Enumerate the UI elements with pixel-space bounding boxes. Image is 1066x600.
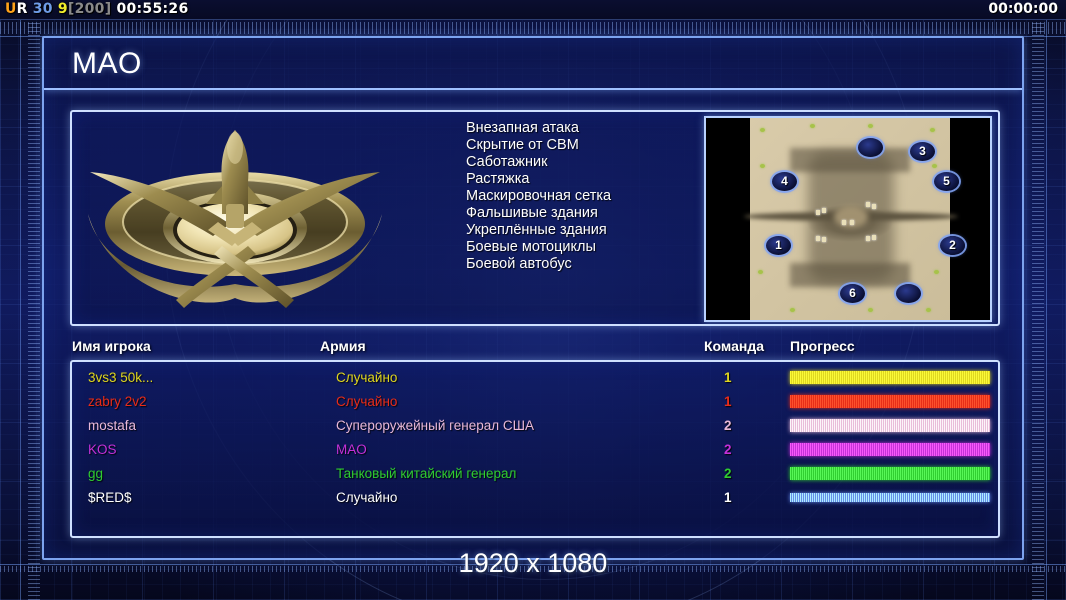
faction-abilities-list: Внезапная атака Скрытие от СВМ Саботажни… [466, 120, 736, 273]
map-start-position[interactable]: 1 [766, 236, 791, 255]
player-army: Танковый китайский генерал [336, 462, 516, 486]
faction-info-panel: Внезапная атака Скрытие от СВМ Саботажни… [70, 110, 1000, 326]
map-start-position[interactable] [858, 138, 883, 157]
ability-item: Укреплённые здания [466, 222, 736, 239]
player-team: 1 [724, 366, 732, 390]
players-table: 3vs3 50k...Случайно1zabry 2v2Случайно1mo… [70, 360, 1000, 538]
player-name: $RED$ [88, 486, 132, 510]
progress-bar-fill [790, 371, 990, 384]
column-header-progress: Прогресс [790, 338, 855, 354]
progress-bar [790, 371, 990, 384]
progress-bar-fill [790, 395, 990, 408]
divider-left [20, 20, 21, 600]
ability-item: Маскировочная сетка [466, 188, 736, 205]
progress-bar-fill [790, 467, 990, 480]
status-bar: UR309[200]00:55:26 00:00:00 [0, 0, 1066, 20]
player-name: KOS [88, 438, 117, 462]
status-prefix-u: U [5, 1, 17, 17]
status-bracket: [200] [68, 1, 112, 17]
status-bar-left: UR309[200]00:55:26 [5, 1, 188, 17]
progress-bar-fill [790, 443, 990, 456]
column-header-name: Имя игрока [72, 338, 151, 354]
column-header-team: Команда [704, 338, 764, 354]
emblem-icon [80, 118, 390, 322]
page-title: MAO [72, 47, 142, 81]
ability-item: Внезапная атака [466, 120, 736, 137]
lobby-frame: MAO [42, 36, 1024, 560]
progress-bar [790, 467, 990, 480]
ruler-right [1032, 0, 1044, 600]
table-row[interactable]: KOSMAO2 [72, 438, 998, 462]
table-row[interactable]: $RED$Случайно1 [72, 486, 998, 510]
player-army: Случайно [336, 390, 397, 414]
ability-item: Фальшивые здания [466, 205, 736, 222]
player-name: gg [88, 462, 103, 486]
ruler-left [28, 0, 40, 600]
progress-bar [790, 493, 990, 502]
ability-item: Скрытие от СВМ [466, 137, 736, 154]
faction-emblem [80, 118, 390, 322]
player-team: 2 [724, 438, 732, 462]
player-name: mostafa [88, 414, 136, 438]
player-team: 1 [724, 390, 732, 414]
player-name: 3vs3 50k... [88, 366, 153, 390]
map-image: 3 4 5 1 2 6 [750, 118, 950, 320]
progress-bar [790, 419, 990, 432]
player-team: 2 [724, 414, 732, 438]
table-row[interactable]: zabry 2v2Случайно1 [72, 390, 998, 414]
ability-item: Саботажник [466, 154, 736, 171]
map-start-position[interactable]: 4 [772, 172, 797, 191]
progress-bar [790, 395, 990, 408]
progress-bar-fill [790, 419, 990, 432]
map-start-position[interactable]: 2 [940, 236, 965, 255]
status-fps: 30 [33, 1, 53, 17]
progress-bar-fill [790, 493, 990, 502]
player-army: Супероружейный генерал США [336, 414, 534, 438]
map-start-position[interactable]: 3 [910, 142, 935, 161]
player-army: MAO [336, 438, 367, 462]
divider-right [1046, 20, 1047, 600]
player-name: zabry 2v2 [88, 390, 147, 414]
table-row[interactable]: 3vs3 50k...Случайно1 [72, 366, 998, 390]
table-row[interactable]: ggТанковый китайский генерал2 [72, 462, 998, 486]
map-start-position[interactable]: 6 [840, 284, 865, 303]
players-table-header: Имя игрока Армия Команда Прогресс [72, 338, 992, 360]
ability-item: Боевые мотоциклы [466, 239, 736, 256]
status-right-clock: 00:00:00 [988, 1, 1058, 17]
status-clock: 00:55:26 [116, 1, 188, 17]
player-team: 2 [724, 462, 732, 486]
player-team: 1 [724, 486, 732, 510]
player-army: Случайно [336, 366, 397, 390]
title-bar: MAO [44, 38, 1022, 90]
ability-item: Растяжка [466, 171, 736, 188]
ability-item: Боевой автобус [466, 256, 736, 273]
progress-bar [790, 443, 990, 456]
map-preview[interactable]: 3 4 5 1 2 6 [704, 116, 992, 322]
map-start-position[interactable] [896, 284, 921, 303]
status-prefix-r: R [17, 1, 28, 17]
game-lobby-screen: UR309[200]00:55:26 00:00:00 MAO [0, 0, 1066, 600]
resolution-label: 1920 x 1080 [0, 548, 1066, 579]
table-row[interactable]: mostafaСупероружейный генерал США2 [72, 414, 998, 438]
column-header-army: Армия [320, 338, 366, 354]
player-army: Случайно [336, 486, 397, 510]
status-ping: 9 [58, 1, 68, 17]
map-start-position[interactable]: 5 [934, 172, 959, 191]
ruler-top [0, 22, 1066, 34]
